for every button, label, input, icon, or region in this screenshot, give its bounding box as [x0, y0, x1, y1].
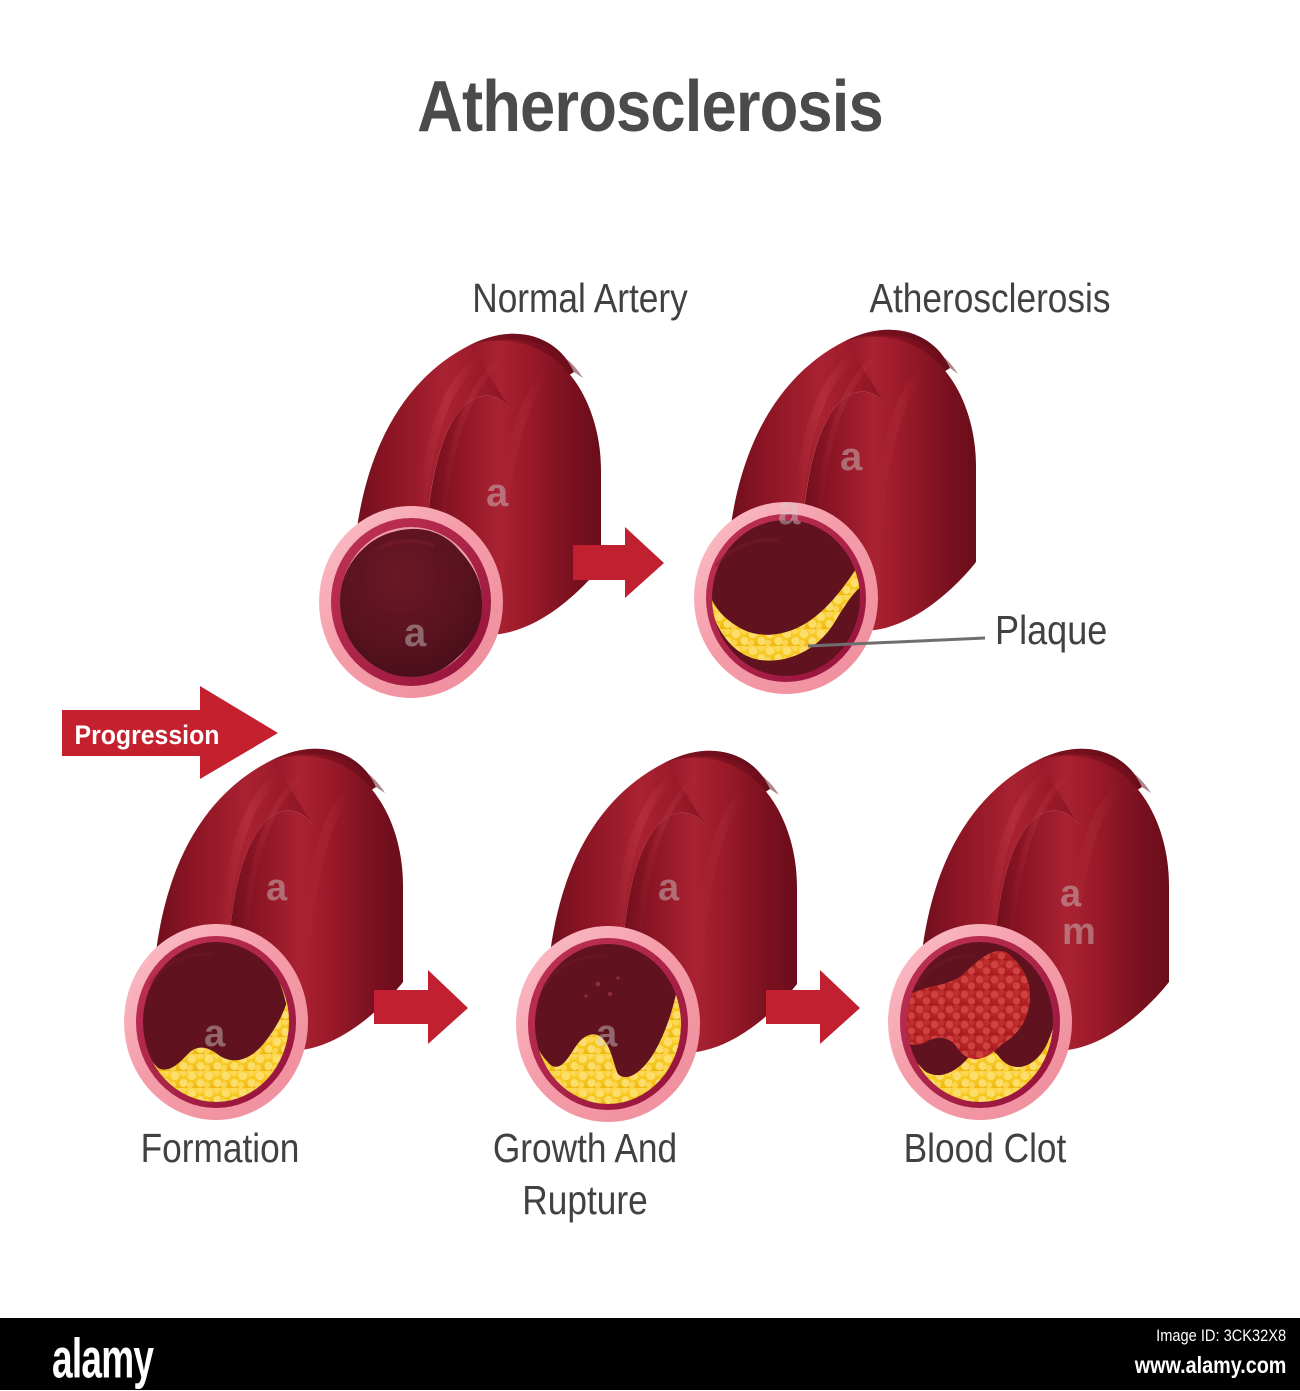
artery-illustrations: a a a a [0, 0, 1300, 1390]
footer-bar [0, 1318, 1300, 1390]
progression-arrow-label: Progression [75, 721, 220, 750]
alamy-logo: alamy [52, 1326, 153, 1391]
progression-arrow: Progression [62, 686, 278, 779]
diagram-canvas: Atherosclerosis Normal Artery Atheroscle… [0, 0, 1300, 1390]
svg-text:a: a [778, 489, 801, 533]
website-text: www.alamy.com [1134, 1352, 1286, 1379]
svg-text:a: a [840, 435, 863, 479]
svg-text:a: a [1060, 873, 1082, 915]
svg-text:a: a [596, 1013, 618, 1055]
artery-growth-and-rupture: a a [516, 751, 797, 1122]
svg-text:a: a [658, 867, 680, 909]
svg-text:a: a [266, 867, 288, 909]
artery-blood-clot: a m [888, 749, 1169, 1120]
svg-text:m: m [1062, 911, 1096, 953]
artery-atherosclerosis: a a [694, 330, 985, 694]
artery-normal-artery: a a [319, 334, 601, 698]
svg-text:a: a [204, 1013, 226, 1055]
artery-formation: a a [124, 749, 403, 1120]
watermark-letter: a [404, 611, 427, 655]
image-id-text: Image ID: 3CK32X8 [1156, 1326, 1286, 1346]
svg-text:a: a [486, 471, 509, 515]
